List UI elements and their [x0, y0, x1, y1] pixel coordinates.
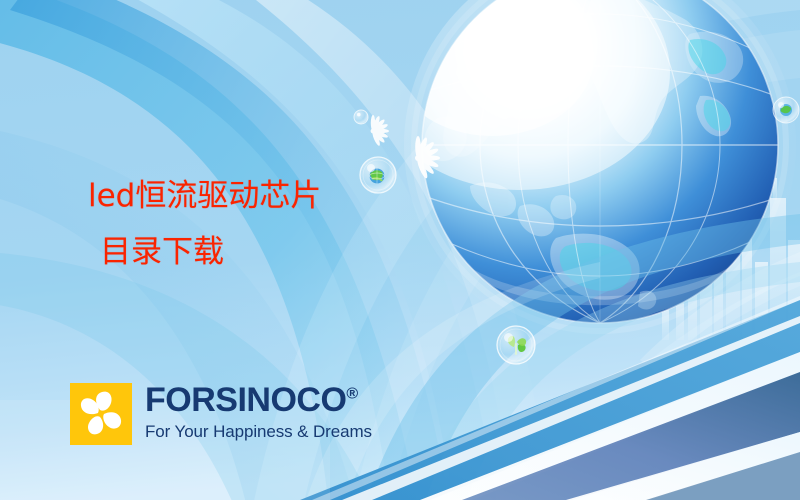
headline-line-2: 目录下载	[88, 224, 321, 280]
logo-wordmark-label: FORSINOCO	[145, 381, 346, 419]
bubble-sprout-icon	[497, 326, 535, 364]
bubble-small-icon	[354, 110, 368, 124]
bubble-globe-icon	[360, 157, 396, 193]
logo-mark-tile	[70, 383, 132, 445]
four-petal-pinwheel-icon	[70, 383, 132, 445]
registered-trademark-icon: ®	[346, 386, 358, 403]
promo-banner: led恒流驱动芯片 目录下载 FORSINOCO® For Your Happi…	[0, 0, 800, 500]
headline-text: led恒流驱动芯片 目录下载	[88, 168, 321, 280]
company-logo[interactable]: FORSINOCO® For Your Happiness & Dreams	[70, 383, 372, 445]
bubble-globe-icon	[773, 97, 799, 123]
logo-text-block: FORSINOCO® For Your Happiness & Dreams	[145, 383, 372, 441]
logo-wordmark: FORSINOCO®	[145, 383, 372, 417]
logo-tagline: For Your Happiness & Dreams	[145, 422, 372, 441]
headline-line-1: led恒流驱动芯片	[88, 168, 321, 224]
